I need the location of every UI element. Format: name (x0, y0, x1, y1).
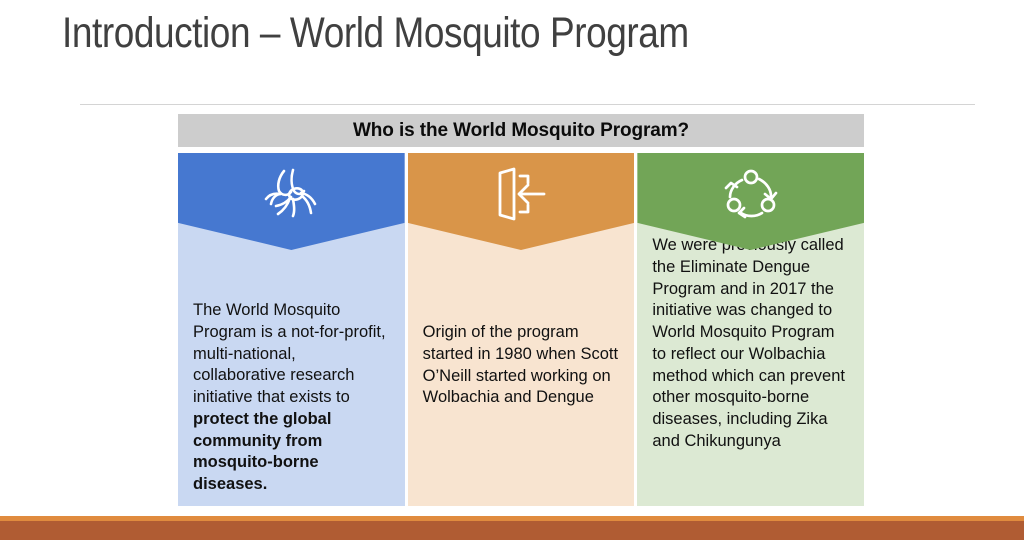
column-1-body: The World Mosquito Program is a not-for-… (178, 223, 405, 506)
page-title: Introduction – World Mosquito Program (62, 10, 689, 56)
entrance-arrow-icon (489, 165, 553, 223)
accent-bar-thick (0, 521, 1024, 540)
horizontal-divider (80, 104, 975, 105)
mosquito-icon (259, 165, 323, 223)
column-1-text-plain: The World Mosquito Program is a not-for-… (193, 301, 386, 406)
diagram-header-bar: Who is the World Mosquito Program? (178, 114, 864, 147)
diagram-header-label: Who is the World Mosquito Program? (353, 120, 689, 142)
column-3-text-plain: We were previously called the Eliminate … (652, 236, 845, 450)
cycle-arrows-icon (719, 165, 783, 223)
column-3-body: We were previously called the Eliminate … (637, 223, 864, 506)
column-2-text-plain: Origin of the program started in 1980 wh… (423, 323, 618, 406)
diagram-column-2: Origin of the program started in 1980 wh… (408, 153, 635, 506)
diagram-column-3: We were previously called the Eliminate … (637, 153, 864, 506)
diagram-columns: The World Mosquito Program is a not-for-… (178, 153, 864, 506)
diagram-column-1: The World Mosquito Program is a not-for-… (178, 153, 405, 506)
column-2-body: Origin of the program started in 1980 wh… (408, 223, 635, 506)
diagram-container: Who is the World Mosquito Program? (178, 114, 864, 506)
column-1-text-bold: protect the global community from mosqui… (193, 410, 331, 493)
